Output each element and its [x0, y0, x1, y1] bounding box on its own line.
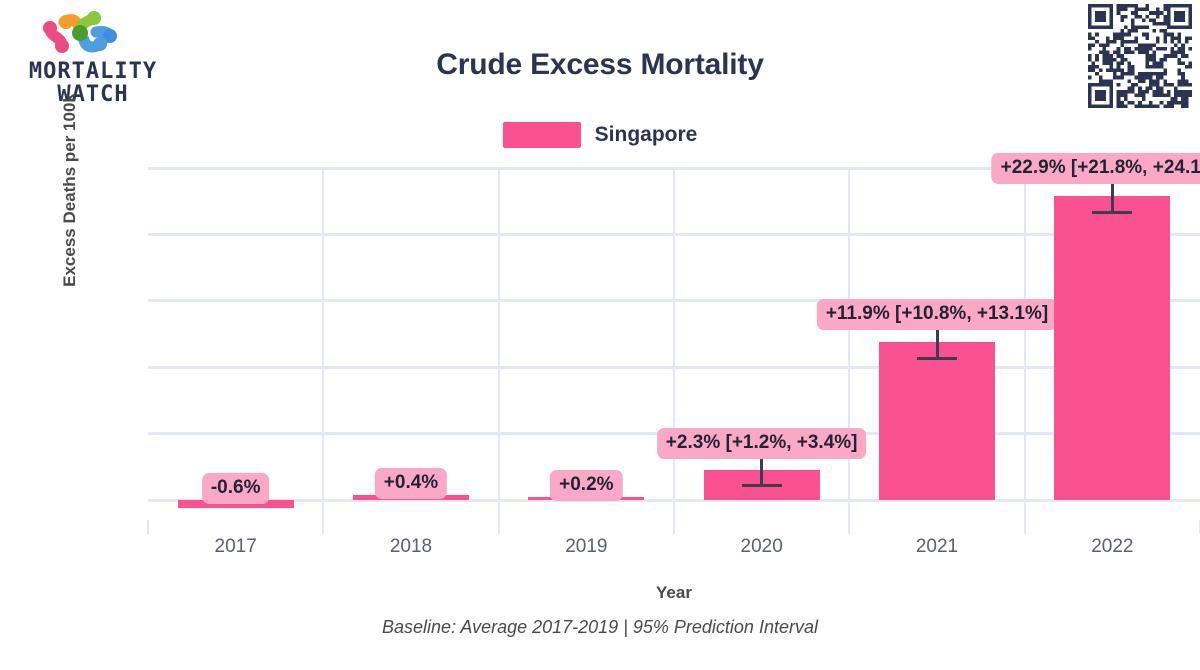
plot-area: 0%+5%+10%+15%+20%+25%2017201820192020202…: [148, 168, 1200, 520]
data-label-2018: +0.4%: [375, 468, 447, 499]
bar-2022[interactable]: [1054, 196, 1170, 500]
error-bar-2022: [1111, 180, 1114, 211]
gridline-vertical: [498, 168, 500, 520]
data-label-2017: -0.6%: [202, 473, 270, 504]
x-tick-label: 2021: [847, 536, 1027, 558]
error-bar-2020: [760, 455, 763, 484]
x-axis-title: Year: [148, 583, 1200, 603]
gridline-vertical: [848, 168, 850, 520]
data-label-2022: +22.9% [+21.8%, +24.1%]: [992, 153, 1200, 184]
error-bar-cap-lower-2022: [1092, 211, 1132, 214]
x-tick-mark: [147, 520, 149, 534]
y-axis-title: Excess Deaths per 100k: [60, 10, 80, 370]
x-tick-label: 2019: [496, 536, 676, 558]
x-tick-label: 2020: [672, 536, 852, 558]
x-tick-label: 2017: [146, 536, 326, 558]
data-label-2019: +0.2%: [550, 470, 622, 501]
legend-swatch-singapore: [503, 122, 581, 148]
error-bar-cap-lower-2021: [917, 357, 957, 360]
error-bar-cap-lower-2020: [742, 484, 782, 487]
legend-label-singapore: Singapore: [595, 123, 698, 147]
x-tick-mark: [322, 520, 324, 534]
x-tick-mark: [498, 520, 500, 534]
data-label-2020: +2.3% [+1.2%, +3.4%]: [657, 428, 867, 459]
bar-2021[interactable]: [879, 342, 995, 500]
gridline-vertical: [322, 168, 324, 520]
x-tick-label: 2018: [321, 536, 501, 558]
data-label-2021: +11.9% [+10.8%, +13.1%]: [817, 299, 1057, 330]
page-title: Crude Excess Mortality: [0, 48, 1200, 82]
brand-wordmark-line-2: WATCH: [18, 83, 168, 106]
x-tick-mark: [848, 520, 850, 534]
x-tick-mark: [673, 520, 675, 534]
x-tick-label: 2022: [1022, 536, 1200, 558]
gridline-vertical: [1024, 168, 1026, 520]
gridline-vertical: [673, 168, 675, 520]
chart-caption: Baseline: Average 2017-2019 | 95% Predic…: [0, 617, 1200, 638]
chart-legend: Singapore: [0, 122, 1200, 148]
error-bar-2021: [936, 326, 939, 357]
x-tick-mark: [1024, 520, 1026, 534]
